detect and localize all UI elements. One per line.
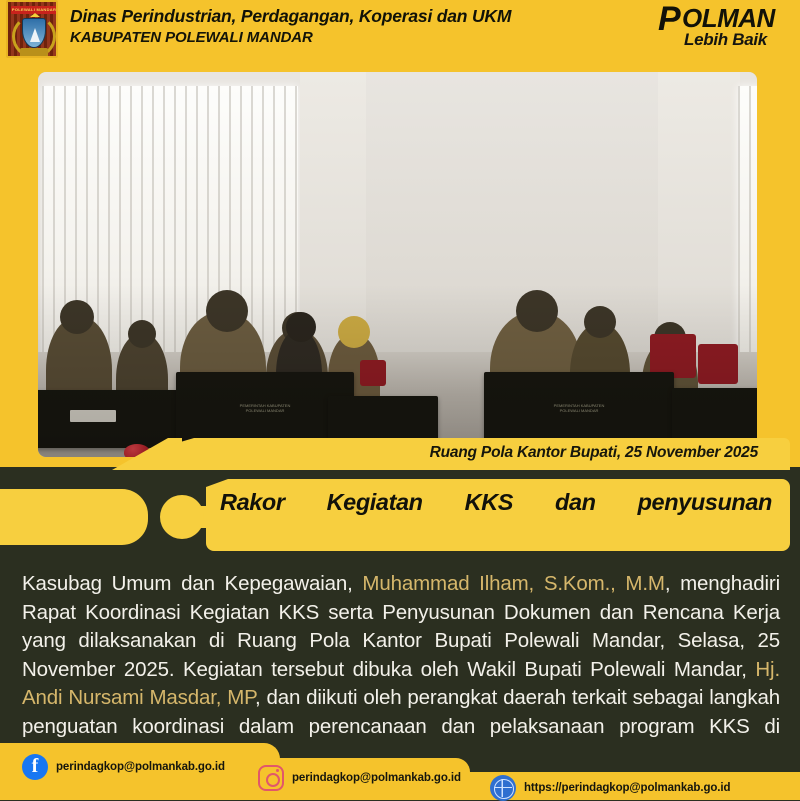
regency-crest-logo: POLEWALI MANDAR (6, 0, 58, 62)
event-photo: PEMERINTAH KABUPATENPOLEWALI MANDAR PEME… (38, 72, 757, 457)
polman-logo-word: OLMAN (682, 5, 775, 31)
facebook-handle: perindagkop@polmankab.go.id (56, 761, 225, 773)
decorative-dot (160, 495, 204, 539)
website-globe-icon[interactable] (490, 775, 516, 801)
footer-contact-facebook[interactable]: perindagkop@polmankab.go.id (22, 754, 225, 780)
date-location-band: Ruang Pola Kantor Bupati, 25 November 20… (160, 438, 790, 470)
instagram-handle: perindagkop@polmankab.go.id (292, 772, 461, 784)
page-footer: perindagkop@polmankab.go.id perindagkop@… (0, 728, 800, 800)
decorative-bar (0, 489, 148, 545)
polman-logo-initial: P (658, 2, 679, 36)
body-text-run: Kasubag Umum dan Kepegawaian, (22, 572, 362, 595)
facebook-icon[interactable] (22, 754, 48, 780)
article-body-panel: Kasubag Umum dan Kepegawaian, Muhammad I… (0, 556, 800, 752)
crest-star-icon (30, 13, 40, 17)
crest-base (20, 48, 48, 58)
instagram-icon[interactable] (258, 765, 284, 791)
headline-line-1: Rakor Kegiatan KKS dan penyusunan (220, 488, 772, 546)
footer-contact-instagram[interactable]: perindagkop@polmankab.go.id (258, 765, 461, 791)
website-url: https://perindagkop@polmankab.go.id (524, 782, 730, 794)
organization-name: Dinas Perindustrian, Perdagangan, Kopera… (70, 6, 511, 27)
highlighted-person-name: Muhammad Ilham, S.Kom., M.M (362, 572, 664, 595)
polman-logo-tagline: Lebih Baik (684, 30, 767, 50)
polman-logo: P OLMAN Lebih Baik (654, 4, 790, 56)
footer-contact-website[interactable]: https://perindagkop@polmankab.go.id (490, 775, 730, 801)
regency-name: KABUPATEN POLEWALI MANDAR (70, 28, 511, 47)
date-location-text: Ruang Pola Kantor Bupati, 25 November 20… (430, 444, 758, 462)
crest-plate: POLEWALI MANDAR (6, 0, 58, 58)
photo-vignette (38, 72, 757, 457)
header-title-group: Dinas Perindustrian, Perdagangan, Kopera… (70, 6, 511, 47)
page-header: POLEWALI MANDAR Dinas Perindustrian, Per… (0, 0, 800, 62)
photo-panel: PEMERINTAH KABUPATENPOLEWALI MANDAR PEME… (0, 62, 800, 467)
headline-band: Rakor Kegiatan KKS dan penyusunan dokume… (206, 479, 790, 551)
